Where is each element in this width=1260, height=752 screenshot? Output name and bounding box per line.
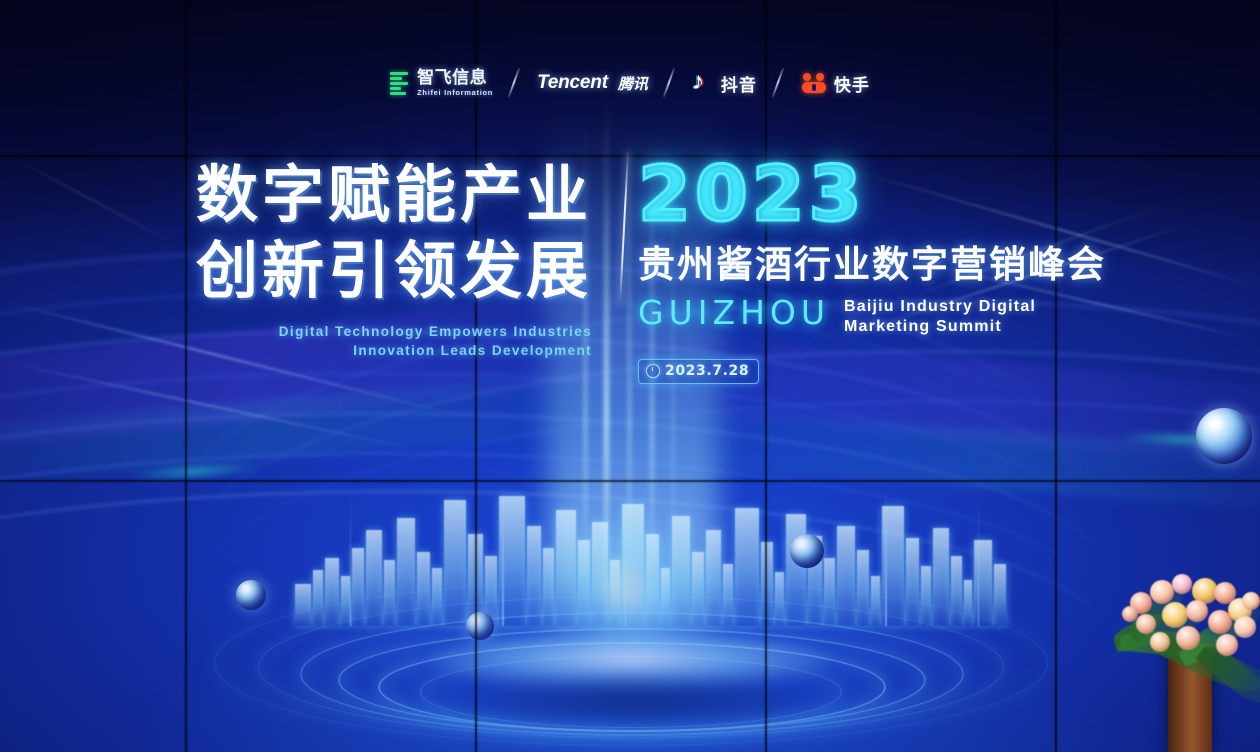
flower-bloom	[1162, 602, 1188, 628]
event-info-block: 2023 贵州酱酒行业数字营销峰会 GUIZHOU Baijiu Industr…	[638, 156, 1106, 384]
flower-bloom	[1216, 634, 1238, 656]
zhifei-en-label: Zhifei Information	[417, 89, 493, 97]
flower-bloom	[1176, 626, 1200, 650]
event-year: 2023	[638, 156, 1106, 232]
logo-tencent: Tencent 腾讯	[537, 72, 648, 94]
floral-arrangement	[1116, 552, 1260, 752]
led-backdrop-stage: 智飞信息 Zhifei Information Tencent 腾讯 ♪ ♪ ♪…	[0, 0, 1260, 752]
event-en-line-2: Marketing Summit	[844, 317, 1036, 337]
flower-bloom	[1172, 574, 1192, 594]
headline-en-line-1: Digital Technology Empowers Industries	[196, 322, 592, 341]
event-en-line-1: Baijiu Industry Digital	[844, 297, 1036, 317]
clock-icon	[646, 364, 660, 378]
led-seam-vertical-1	[185, 0, 187, 752]
flower-bloom	[1122, 606, 1138, 622]
flower-bloom	[1242, 592, 1260, 610]
pearl-sphere-2	[236, 580, 266, 610]
headline-en-subtitle: Digital Technology Empowers Industries I…	[196, 322, 592, 360]
pearl-sphere-1	[1196, 408, 1252, 464]
headline-cn-line-1: 数字赋能产业	[196, 158, 592, 234]
event-date-badge: 2023.7.28	[638, 359, 759, 384]
zhifei-wordmark: 智飞信息 Zhifei Information	[417, 69, 493, 97]
led-seam-horizontal-2	[0, 480, 1260, 482]
sponsor-logo-bar: 智飞信息 Zhifei Information Tencent 腾讯 ♪ ♪ ♪…	[0, 68, 1260, 98]
logo-separator-2	[657, 68, 683, 98]
kuaishou-smiley-icon	[801, 73, 827, 93]
flower-bloom	[1186, 600, 1208, 622]
zhifei-cn-label: 智飞信息	[417, 69, 493, 86]
zhifei-bars-icon	[390, 70, 410, 96]
event-cn-title: 贵州酱酒行业数字营销峰会	[638, 242, 1106, 288]
flower-bloom	[1234, 616, 1256, 638]
flower-bloom	[1150, 632, 1170, 652]
title-divider	[619, 152, 629, 304]
douyin-note-icon: ♪ ♪ ♪	[692, 71, 714, 95]
logo-separator-1	[502, 68, 528, 98]
led-seam-vertical-2	[475, 0, 477, 752]
flower-bloom	[1150, 580, 1174, 604]
headline-en-line-2: Innovation Leads Development	[196, 341, 592, 360]
event-en-title: Baijiu Industry Digital Marketing Summit	[844, 297, 1036, 337]
event-en-row: GUIZHOU Baijiu Industry Digital Marketin…	[638, 296, 1106, 337]
logo-douyin: ♪ ♪ ♪ 抖音	[692, 71, 757, 96]
logo-zhifei: 智飞信息 Zhifei Information	[390, 69, 493, 97]
logo-separator-3	[766, 68, 792, 98]
tencent-en-label: Tencent	[537, 72, 608, 94]
flower-bloom	[1136, 614, 1156, 634]
kuaishou-cn-label: 快手	[834, 71, 870, 96]
headline-cn-line-2: 创新引领发展	[196, 234, 592, 310]
digital-city-skyline	[295, 496, 975, 626]
douyin-cn-label: 抖音	[721, 71, 757, 96]
flower-bloom	[1208, 610, 1232, 634]
event-region-label: GUIZHOU	[638, 296, 830, 330]
headline-block: 数字赋能产业 创新引领发展 Digital Technology Empower…	[196, 158, 592, 360]
tencent-cn-label: 腾讯	[618, 73, 648, 94]
event-date-text: 2023.7.28	[665, 363, 749, 379]
logo-kuaishou: 快手	[801, 71, 870, 96]
